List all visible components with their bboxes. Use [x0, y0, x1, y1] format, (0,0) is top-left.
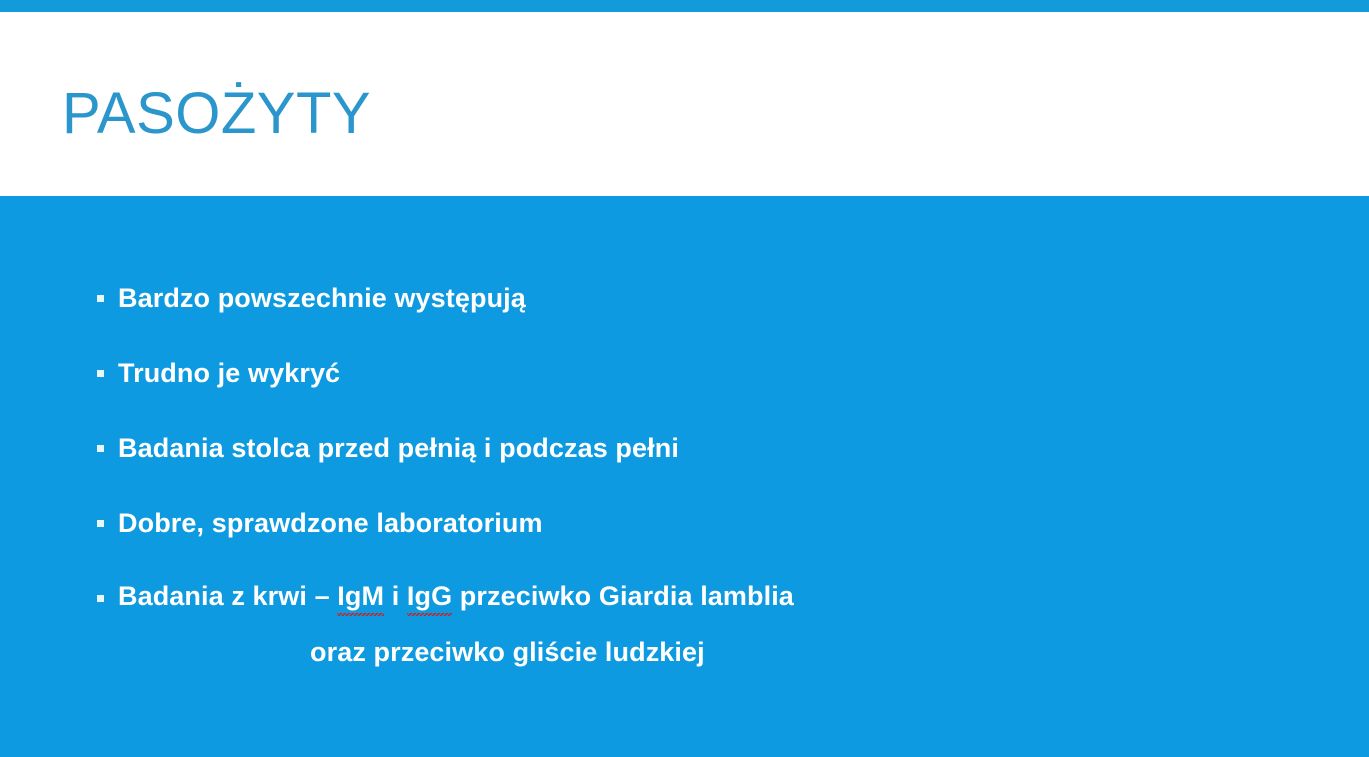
bullet-text: Badania stolca przed pełnią i podczas pe…	[118, 431, 679, 465]
bullet-square-icon	[97, 595, 104, 602]
bullet-square-icon	[97, 295, 104, 302]
bullet-square-icon	[97, 370, 104, 377]
bullet-text-prefix: Badania z krwi –	[118, 581, 337, 611]
slide-body-area: Bardzo powszechnie występują Trudno je w…	[0, 196, 1369, 757]
list-item: Badania z krwi – IgM i IgG przeciwko Gia…	[96, 560, 1336, 635]
slide-title-area: Pasożyty	[0, 12, 1369, 196]
bullet-square-icon	[97, 520, 104, 527]
list-item: Badania stolca przed pełnią i podczas pe…	[96, 410, 1336, 485]
bullet-text: Bardzo powszechnie występują	[118, 281, 526, 315]
bullet-text: Badania z krwi – IgM i IgG przeciwko Gia…	[118, 579, 794, 617]
continuation-text: oraz przeciwko gliście ludzkiej	[310, 635, 705, 669]
bullet-square-icon	[97, 445, 104, 452]
presentation-slide: Pasożyty Bardzo powszechnie występują Tr…	[0, 0, 1369, 757]
bullet-list: Bardzo powszechnie występują Trudno je w…	[96, 260, 1336, 635]
list-item: Bardzo powszechnie występują	[96, 260, 1336, 335]
bullet-text-suffix: przeciwko Giardia lamblia	[452, 581, 794, 611]
bullet-text: Trudno je wykryć	[118, 356, 340, 390]
list-item: Trudno je wykryć	[96, 335, 1336, 410]
page-title: Pasożyty	[62, 78, 371, 150]
spellcheck-misspelled-word: IgG	[407, 579, 452, 617]
top-accent-bar	[0, 0, 1369, 12]
bullet-text: Dobre, sprawdzone laboratorium	[118, 506, 543, 540]
bullet-text-middle: i	[384, 581, 407, 611]
list-item: Dobre, sprawdzone laboratorium	[96, 485, 1336, 560]
spellcheck-misspelled-word: IgM	[337, 579, 384, 617]
